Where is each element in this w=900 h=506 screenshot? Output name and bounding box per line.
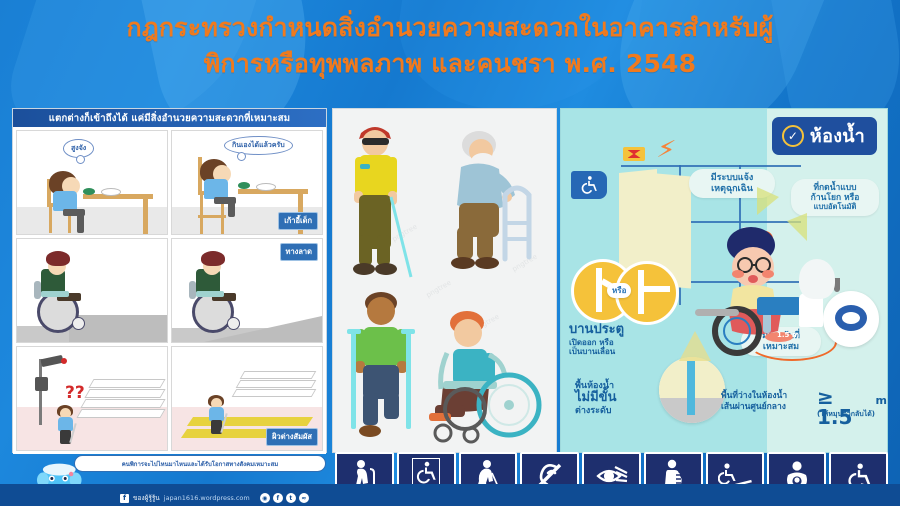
wheelchair-icon <box>579 175 599 195</box>
comic-cell-child-table-too-high: สูงจัง <box>16 130 168 235</box>
toilet-closeup <box>823 291 879 347</box>
chair-leg-a <box>49 207 52 233</box>
turning-line-1: พื้นที่ว่างในห้องน้ำ <box>721 391 787 402</box>
footer-page-name: ของผู้รู้รู้น <box>133 493 160 503</box>
label-line-3: เป็นบานเลื่อน <box>569 347 624 356</box>
crosswalk-stripe <box>232 389 317 397</box>
toilet-seat <box>842 312 860 324</box>
callout-line-1: มีระบบแจ้ง <box>711 173 754 184</box>
footer-bar: f ของผู้รู้รู้น japan1616.wordpress.com … <box>0 484 900 506</box>
flush-type-callout: ที่กดน้ำแบบ ก้านโยก หรือ แบบอัตโนมัติ <box>791 179 879 216</box>
facebook-icon[interactable]: f <box>120 494 129 503</box>
watermark: pngtree <box>425 279 453 300</box>
turning-space-number: ≥ 1.5 <box>817 387 873 427</box>
comic-cell-wheelchair-ramp: ทางลาด <box>171 238 323 343</box>
young-man-in-wheelchair <box>423 309 549 447</box>
tactile-paving-strip <box>187 417 313 426</box>
footer-social-row: f ของผู้รู้รู้น japan1616.wordpress.com … <box>120 493 309 503</box>
signal-red-light <box>61 358 67 364</box>
seat-cushion <box>41 291 69 297</box>
crosswalk-stripe <box>236 380 317 388</box>
door-wall <box>596 268 602 312</box>
credit-bubble: คนพิการจะไปไหนมาไหนและได้รับโอกาสทางสังค… <box>74 455 326 472</box>
rss-icon[interactable]: ≈ <box>299 493 309 503</box>
comic-cell-blind-crossing-no-guide: ?? <box>16 346 168 451</box>
floor-level-closeup <box>659 357 725 423</box>
door-wall <box>638 270 644 314</box>
torso <box>209 407 224 421</box>
cell-tag: เก้าอี้เด็ก <box>278 212 318 230</box>
grab-bar <box>695 309 739 316</box>
signal-head <box>35 377 48 391</box>
bathroom-badge-label: ห้องน้ำ <box>810 121 865 150</box>
turning-radius-arc <box>747 323 837 361</box>
alarm-bowtie-shape <box>628 150 641 158</box>
callout-line-3: แบบอัตโนมัติ <box>814 203 857 212</box>
facebook-icon[interactable]: f <box>273 493 283 503</box>
level-threshold-marker <box>687 361 695 415</box>
check-icon: ✓ <box>782 125 804 147</box>
shin <box>77 213 84 233</box>
elderly-man-with-walker <box>443 127 543 279</box>
label-line-2: ไม่มีขั้น <box>575 391 616 406</box>
blind-man-with-white-cane <box>341 117 419 282</box>
alert-bolt-icon: ⚡ <box>655 134 677 166</box>
bathroom-requirements-panel: ✓ ห้องน้ำ ⚡ <box>560 108 888 453</box>
people-illustration-panel: pngtree pngtree pngtree pngtree <box>332 108 557 453</box>
crosswalk-stripe <box>76 409 165 418</box>
comic-panel: แตกต่างก็เข้าถึงได้ แค่มีสิ่งอำนวยความสะ… <box>12 108 327 453</box>
turning-space-note: (ให้หมุนตัวกลับได้) <box>817 409 875 420</box>
comic-panel-header: แตกต่างก็เข้าถึงได้ แค่มีสิ่งอำนวยความสะ… <box>13 109 326 127</box>
turning-space-unit: m <box>876 394 887 407</box>
cell-tag: ทางลาด <box>280 243 319 261</box>
cell-tag: ผิวต่างสัมผัส <box>266 428 318 446</box>
seat-cushion <box>196 291 224 297</box>
food-plate <box>256 183 276 191</box>
label-line-2: เปิดออก หรือ <box>569 338 624 347</box>
speech-bubble: กินเองได้แล้วครับ <box>224 136 293 155</box>
crosswalk-stripe <box>88 379 165 388</box>
crosswalk-stripe <box>240 371 317 379</box>
man-with-crutches <box>339 289 425 447</box>
floor-level-label: พื้นห้องน้ำ ไม่มีขั้น ต่างระดับ <box>575 381 616 417</box>
comic-cell-child-high-chair: กินเองได้แล้วครับ เก้าอี้เด็ก <box>171 130 323 235</box>
food-bowl <box>83 188 95 195</box>
label-line-1: บานประตู <box>569 323 624 338</box>
wheelchair-caster <box>72 317 85 330</box>
callout-line-1: ที่กดน้ำแบบ <box>813 183 856 193</box>
infographic-canvas: กฎกระทรวงกำหนดสิ่งอำนวยความสะดวกในอาคารส… <box>0 0 900 506</box>
comic-grid: สูงจัง ก <box>13 127 326 454</box>
callout-cone <box>679 331 711 361</box>
floor-dimension-label: 1.5 m <box>777 331 799 339</box>
bathroom-badge: ✓ ห้องน้ำ <box>772 117 877 155</box>
title-line-1: กฎกระทรวงกำหนดสิ่งอำนวยความสะดวกในอาคารส… <box>127 13 774 42</box>
wheelchair-backrest <box>189 281 196 299</box>
footer-url[interactable]: japan1616.wordpress.com <box>164 494 250 502</box>
sliding-leaf <box>644 286 670 292</box>
panels-row: แตกต่างก็เข้าถึงได้ แค่มีสิ่งอำนวยความสะ… <box>12 108 888 453</box>
comic-cell-blind-crossing-tactile: ผิวต่างสัมผัส <box>171 346 323 451</box>
sink-basin <box>757 297 801 315</box>
or-separator-label: หรือ <box>607 283 631 298</box>
footer-social-icons: ◉ f t ≈ <box>260 493 309 503</box>
title-line-2: พิการหรือทุพพลภาพ และคนชรา พ.ศ. 2548 <box>0 46 900 82</box>
signal-pole <box>39 359 42 425</box>
food-bowl <box>238 182 250 189</box>
emergency-alarm-light <box>623 147 645 161</box>
food-plate <box>101 188 121 196</box>
wheelchair-caster <box>227 317 240 330</box>
torso <box>204 179 228 199</box>
turning-line-2: เส้นผ่านศูนย์กลาง <box>721 402 787 413</box>
speech-bubble: สูงจัง <box>63 139 94 158</box>
hair <box>46 251 70 266</box>
confusion-marks: ?? <box>65 383 85 403</box>
door-type-label: บานประตู เปิดออก หรือ เป็นบานเลื่อน <box>569 323 624 356</box>
wheelchair-accessible-sign <box>571 171 607 199</box>
callout-line-2: เหตุฉุกเฉิน <box>711 184 753 195</box>
shin <box>228 201 235 217</box>
globe-icon[interactable]: ◉ <box>260 493 270 503</box>
toilet-body <box>799 259 835 299</box>
tile-line <box>621 165 801 167</box>
label-line-3: ต่างระดับ <box>575 406 616 416</box>
crosswalk-stripe <box>80 399 165 408</box>
hair <box>201 251 225 266</box>
callout-cone <box>757 187 779 215</box>
twitter-icon[interactable]: t <box>286 493 296 503</box>
wheelchair-backrest <box>34 281 41 299</box>
turning-space-value: ≥ 1.5 m <box>817 387 887 427</box>
comic-cell-wheelchair-blocked-step <box>16 238 168 343</box>
highchair-footrest <box>198 215 226 218</box>
turning-space-text: พื้นที่ว่างในห้องน้ำ เส้นผ่านศูนย์กลาง <box>721 391 787 412</box>
torso <box>58 417 73 431</box>
table-leg <box>143 199 148 235</box>
torso <box>53 191 77 211</box>
crosswalk-stripe <box>84 389 165 398</box>
page-title: กฎกระทรวงกำหนดสิ่งอำนวยความสะดวกในอาคารส… <box>0 10 900 81</box>
